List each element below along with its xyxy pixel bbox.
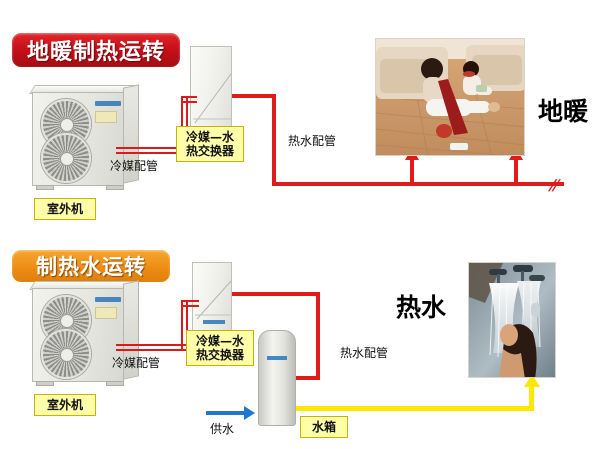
supply-water-arrow-stem bbox=[206, 411, 246, 415]
label-heat-exchanger-top: 冷媒—水 热交换器 bbox=[176, 126, 244, 162]
supply-water-arrow-icon bbox=[244, 406, 255, 420]
label-supply-water: 供水 bbox=[210, 420, 234, 437]
label-water-tank: 水箱 bbox=[300, 416, 348, 438]
brand-logo-icon bbox=[203, 320, 225, 324]
water-tank bbox=[258, 330, 296, 426]
hydro-unit-panel-line bbox=[193, 263, 233, 335]
heat-exchanger-line2: 热交换器 bbox=[183, 144, 237, 158]
brand-logo-icon bbox=[267, 356, 287, 360]
outdoor-unit-front-panel bbox=[32, 288, 124, 382]
outdoor-unit-top bbox=[24, 84, 142, 194]
floor-riser-right-stem bbox=[514, 158, 518, 184]
label-result-floor-heating: 地暖 bbox=[538, 92, 588, 128]
hotwater-pipe-bottom-return bbox=[292, 376, 320, 380]
photo-shower-graphic bbox=[469, 263, 556, 378]
label-outdoor-unit-top: 室外机 bbox=[34, 198, 96, 220]
outdoor-unit-nameplate bbox=[95, 111, 117, 123]
hotwater-pipe-top-upper bbox=[232, 94, 276, 98]
heat-exchanger-line2: 热交换器 bbox=[193, 348, 247, 362]
heat-exchanger-line1: 冷媒—水 bbox=[183, 130, 237, 144]
hydro-unit-bottom bbox=[192, 262, 232, 334]
brand-logo-icon bbox=[95, 297, 121, 302]
outdoor-unit-fan-lower bbox=[41, 133, 91, 183]
water-pipe-vertical bbox=[529, 386, 534, 410]
section-badge-floor-heating: 地暖制热运转 bbox=[12, 33, 180, 67]
water-pipe-horizontal bbox=[296, 406, 534, 411]
outdoor-unit-nameplate bbox=[95, 307, 117, 319]
label-refrigerant-pipe-top: 冷媒配管 bbox=[110, 157, 158, 174]
heat-pump-system-diagram: 地暖制热运转 室外机 冷媒配管 冷媒—水 热交换器 bbox=[0, 0, 600, 449]
label-heat-exchanger-bottom: 冷媒—水 热交换器 bbox=[186, 330, 254, 366]
label-hotwater-pipe-bottom: 热水配管 bbox=[340, 344, 388, 361]
label-outdoor-unit-bottom: 室外机 bbox=[34, 394, 96, 416]
outdoor-unit-foot-left bbox=[36, 381, 54, 386]
hotwater-pipe-bottom-top bbox=[232, 292, 320, 296]
label-refrigerant-pipe-bottom: 冷媒配管 bbox=[112, 354, 160, 371]
outdoor-unit-bottom bbox=[24, 280, 142, 388]
section-badge-hot-water: 制热水运转 bbox=[12, 250, 170, 282]
brand-logo-icon bbox=[95, 101, 121, 106]
outdoor-unit-fan-lower bbox=[41, 329, 91, 379]
refrigerant-pipe-top-elbow bbox=[181, 96, 197, 103]
photo-shower bbox=[468, 262, 556, 378]
refrigerant-pipe-horizontal-bottom bbox=[116, 344, 188, 351]
outdoor-unit-foot-right bbox=[106, 185, 124, 190]
water-tank-body bbox=[258, 330, 296, 426]
hotwater-pipe-bottom-vertical bbox=[316, 292, 320, 380]
hotwater-pipe-top-horizontal bbox=[272, 182, 564, 186]
floor-riser-left-stem bbox=[410, 158, 414, 184]
outdoor-unit-foot-left bbox=[36, 185, 54, 190]
person-figure bbox=[499, 324, 537, 378]
photo-floor-heating-graphic bbox=[376, 39, 525, 156]
photo-floor-heating bbox=[375, 38, 525, 156]
outdoor-unit-foot-right bbox=[106, 381, 124, 386]
heat-exchanger-line1: 冷媒—水 bbox=[193, 334, 247, 348]
label-result-hot-water: 热水 bbox=[396, 288, 446, 324]
label-hotwater-pipe-top: 热水配管 bbox=[288, 132, 336, 149]
refrigerant-pipe-bottom-elbow bbox=[181, 300, 199, 307]
hotwater-pipe-top-vertical bbox=[272, 94, 276, 186]
